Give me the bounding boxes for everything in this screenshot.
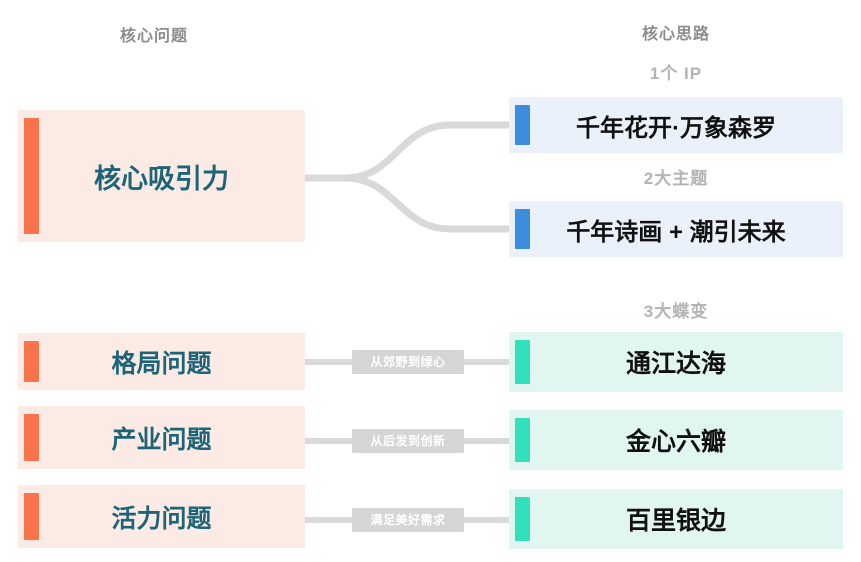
idea-card-ip[interactable]: 千年花开·万象森罗 — [509, 97, 843, 153]
change-card-river[interactable]: 通江达海 — [509, 332, 843, 392]
problem-card-label: 产业问题 — [18, 420, 305, 456]
accent-bar-icon — [515, 105, 530, 145]
accent-bar-icon — [24, 118, 39, 234]
group-caption-changes: 3大蝶变 — [601, 297, 751, 322]
accent-bar-icon — [515, 209, 530, 249]
column-caption-right: 核心思路 — [601, 20, 751, 44]
connector-core-to-ip — [305, 125, 509, 178]
connector-layer — [0, 0, 861, 562]
connector-core-to-themes — [305, 178, 509, 229]
problem-card-vitality[interactable]: 活力问题 — [18, 485, 305, 548]
change-card-silver[interactable]: 百里银边 — [509, 489, 843, 549]
accent-bar-icon — [24, 414, 39, 461]
column-caption-left: 核心问题 — [79, 22, 229, 46]
idea-card-themes[interactable]: 千年诗画 + 潮引未来 — [509, 201, 843, 257]
problem-card-label: 活力问题 — [18, 499, 305, 535]
change-card-label: 通江达海 — [509, 344, 843, 380]
edge-label-row2[interactable]: 从后发到创新 — [352, 429, 464, 453]
problem-card-core[interactable]: 核心吸引力 — [18, 110, 305, 242]
accent-bar-icon — [515, 340, 530, 384]
idea-card-label: 千年花开·万象森罗 — [509, 108, 843, 143]
edge-label-row1[interactable]: 从郊野到绿心 — [352, 350, 464, 374]
edge-label-row3[interactable]: 满足美好需求 — [352, 508, 464, 532]
change-card-label: 百里银边 — [509, 501, 843, 537]
change-card-petals[interactable]: 金心六瓣 — [509, 410, 843, 470]
problem-card-label: 格局问题 — [18, 344, 305, 380]
problem-card-industry[interactable]: 产业问题 — [18, 406, 305, 469]
problem-card-label: 核心吸引力 — [18, 157, 305, 196]
mindmap-canvas: 核心问题 核心思路 1个 IP 2大主题 3大蝶变 核心吸引力 千年花开·万象森… — [0, 0, 861, 562]
problem-card-pattern[interactable]: 格局问题 — [18, 333, 305, 390]
group-caption-themes: 2大主题 — [601, 164, 751, 189]
idea-card-label: 千年诗画 + 潮引未来 — [509, 212, 843, 247]
group-caption-ip: 1个 IP — [601, 59, 751, 84]
change-card-label: 金心六瓣 — [509, 422, 843, 458]
accent-bar-icon — [24, 493, 39, 540]
accent-bar-icon — [515, 497, 530, 541]
accent-bar-icon — [515, 418, 530, 462]
accent-bar-icon — [24, 341, 39, 382]
